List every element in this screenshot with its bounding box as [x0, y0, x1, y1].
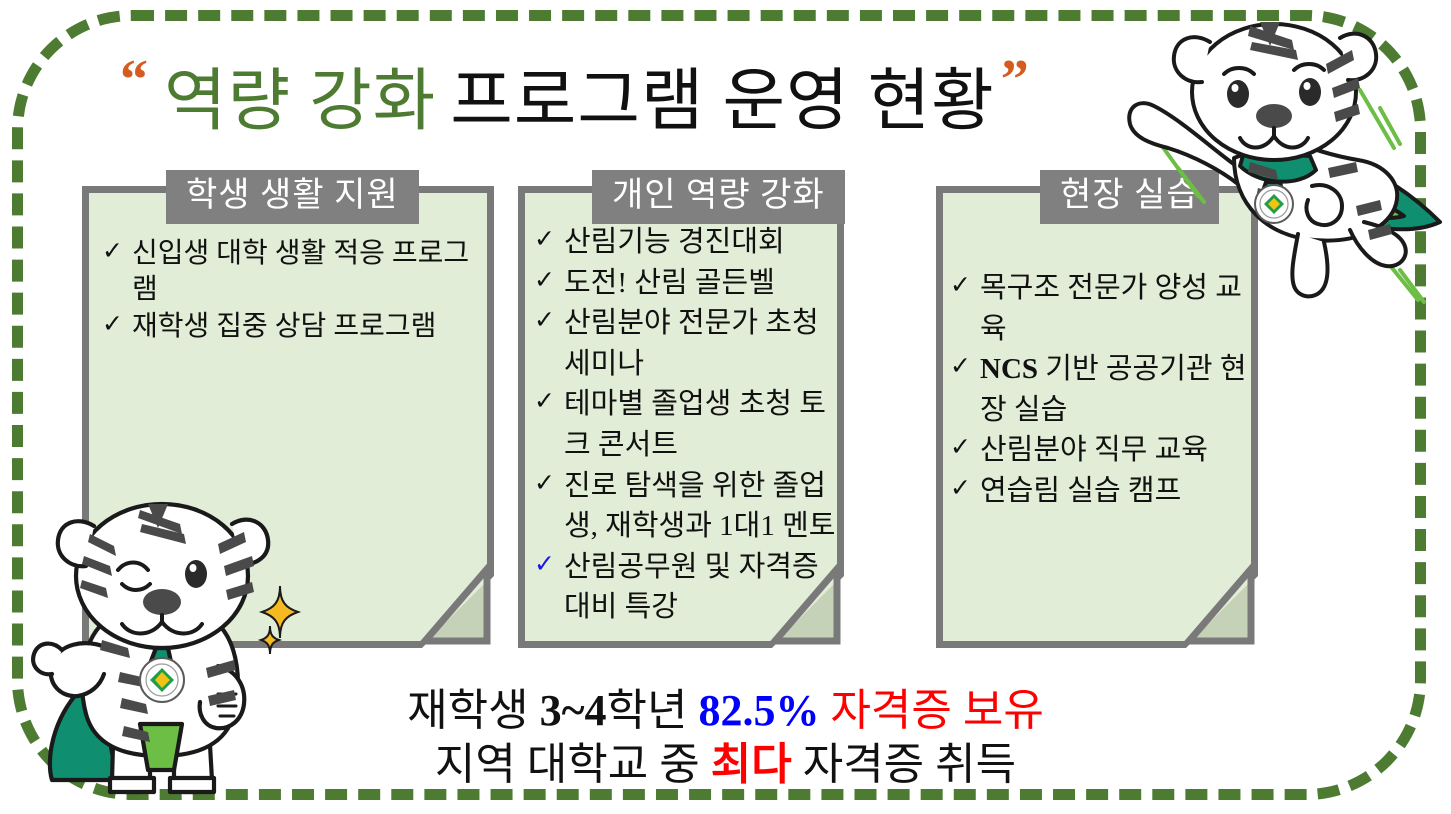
page-title: “ 역량 강화 프로그램 운영 현황 ”	[120, 46, 1200, 142]
close-quote-icon: ”	[1001, 52, 1029, 108]
card-list-personal-capability: ✓ 산림기능 경진대회 ✓ 도전! 산림 골든벨 ✓ 산림분야 전문가 초청 세…	[534, 222, 852, 628]
summary-line-1: 재학생 3~4학년 82.5% 자격증 보유	[0, 684, 1451, 738]
check-icon: ✓	[534, 303, 564, 338]
folded-corner	[1190, 580, 1252, 642]
fold-edge-icon	[409, 563, 495, 649]
page-title-rest: 프로그램 운영 현황	[450, 45, 994, 144]
list-item-label: 진로 탐색을 위한 졸업생, 재학생과 1대1 멘토	[564, 466, 852, 547]
summary-l1-percent: 82.5%	[698, 686, 819, 735]
card-list-field-practice: ✓ 목구조 전문가 양성 교육 ✓ NCS 기반 공공기관 현장 실습 ✓ 산림…	[950, 268, 1260, 512]
check-icon: ✓	[534, 547, 564, 582]
list-item: ✓ 연습림 실습 캠프	[950, 471, 1260, 512]
list-item: ✓ 진로 탐색을 위한 졸업생, 재학생과 1대1 멘토	[534, 466, 852, 547]
list-item-label: 산림분야 전문가 초청 세미나	[564, 303, 852, 384]
list-item: ✓ 산림분야 직무 교육	[950, 430, 1260, 471]
summary-l2-emphasis: 최다	[711, 740, 792, 789]
list-item-label: 도전! 산림 골든벨	[564, 263, 852, 304]
list-item: ✓ 재학생 집중 상담 프로그램	[102, 309, 494, 345]
card-header-student-life: 학생 생활 지원	[166, 170, 419, 224]
check-icon: ✓	[102, 309, 132, 342]
folded-corner	[426, 580, 488, 642]
fold-edge-icon	[1173, 563, 1259, 649]
list-item: ✓ 신입생 대학 생활 적응 프로그램	[102, 236, 494, 309]
list-item: ✓ NCS 기반 공공기관 현장 실습	[950, 349, 1260, 430]
list-item-label: 산림기능 경진대회	[564, 222, 852, 263]
card-list-student-life: ✓ 신입생 대학 생활 적응 프로그램 ✓ 재학생 집중 상담 프로그램	[102, 236, 494, 345]
check-icon: ✓	[534, 222, 564, 257]
check-icon: ✓	[950, 430, 980, 465]
page-title-highlight: 역량 강화	[164, 45, 436, 144]
check-icon: ✓	[534, 466, 564, 501]
list-item-label: 산림공무원 및 자격증 대비 특강	[564, 547, 852, 628]
summary-l2-part3: 자격증 취득	[792, 740, 1016, 789]
list-item-label: NCS 기반 공공기관 현장 실습	[980, 349, 1260, 430]
university-emblem-icon	[1255, 185, 1293, 223]
check-icon: ✓	[950, 349, 980, 384]
infographic-canvas: “ 역량 강화 프로그램 운영 현황 ” 학생 생활 지원 ✓ 신입생 대학 생…	[0, 0, 1451, 814]
summary-l1-part3: 학년	[606, 686, 698, 735]
check-icon: ✓	[102, 236, 132, 269]
list-item-label: 산림분야 직무 교육	[980, 430, 1260, 471]
list-item-label: 테마별 졸업생 초청 토크 콘서트	[564, 384, 852, 465]
open-quote-icon: “	[120, 52, 148, 108]
check-icon: ✓	[534, 384, 564, 419]
check-icon: ✓	[950, 471, 980, 506]
list-item: ✓ 산림기능 경진대회	[534, 222, 852, 263]
summary-l1-part5: 자격증 보유	[819, 686, 1043, 735]
ncs-bold-prefix: NCS	[980, 353, 1038, 385]
summary-l1-grade: 3~4	[540, 686, 607, 735]
fold-cut	[422, 576, 494, 648]
summary-l1-part1: 재학생	[407, 686, 539, 735]
list-item-label: 신입생 대학 생활 적응 프로그램	[132, 236, 494, 309]
check-icon: ✓	[534, 263, 564, 298]
list-item-highlighted: ✓ 산림공무원 및 자격증 대비 특강	[534, 547, 852, 628]
fold-cut	[1186, 576, 1258, 648]
list-item: ✓ 목구조 전문가 양성 교육	[950, 268, 1260, 349]
list-item: ✓ 도전! 산림 골든벨	[534, 263, 852, 304]
list-item-label: 연습림 실습 캠프	[980, 471, 1260, 512]
check-icon: ✓	[950, 268, 980, 303]
card-header-field-practice: 현장 실습	[1040, 170, 1219, 224]
list-item: ✓ 산림분야 전문가 초청 세미나	[534, 303, 852, 384]
list-item-label: 목구조 전문가 양성 교육	[980, 268, 1260, 349]
card-header-personal-capability: 개인 역량 강화	[592, 170, 845, 224]
list-item: ✓ 테마별 졸업생 초청 토크 콘서트	[534, 384, 852, 465]
summary-l2-part1: 지역 대학교 중	[435, 740, 711, 789]
list-item-label: 재학생 집중 상담 프로그램	[132, 309, 494, 345]
summary-line-2: 지역 대학교 중 최다 자격증 취득	[0, 738, 1451, 792]
summary-statement: 재학생 3~4학년 82.5% 자격증 보유 지역 대학교 중 최다 자격증 취…	[0, 684, 1451, 791]
